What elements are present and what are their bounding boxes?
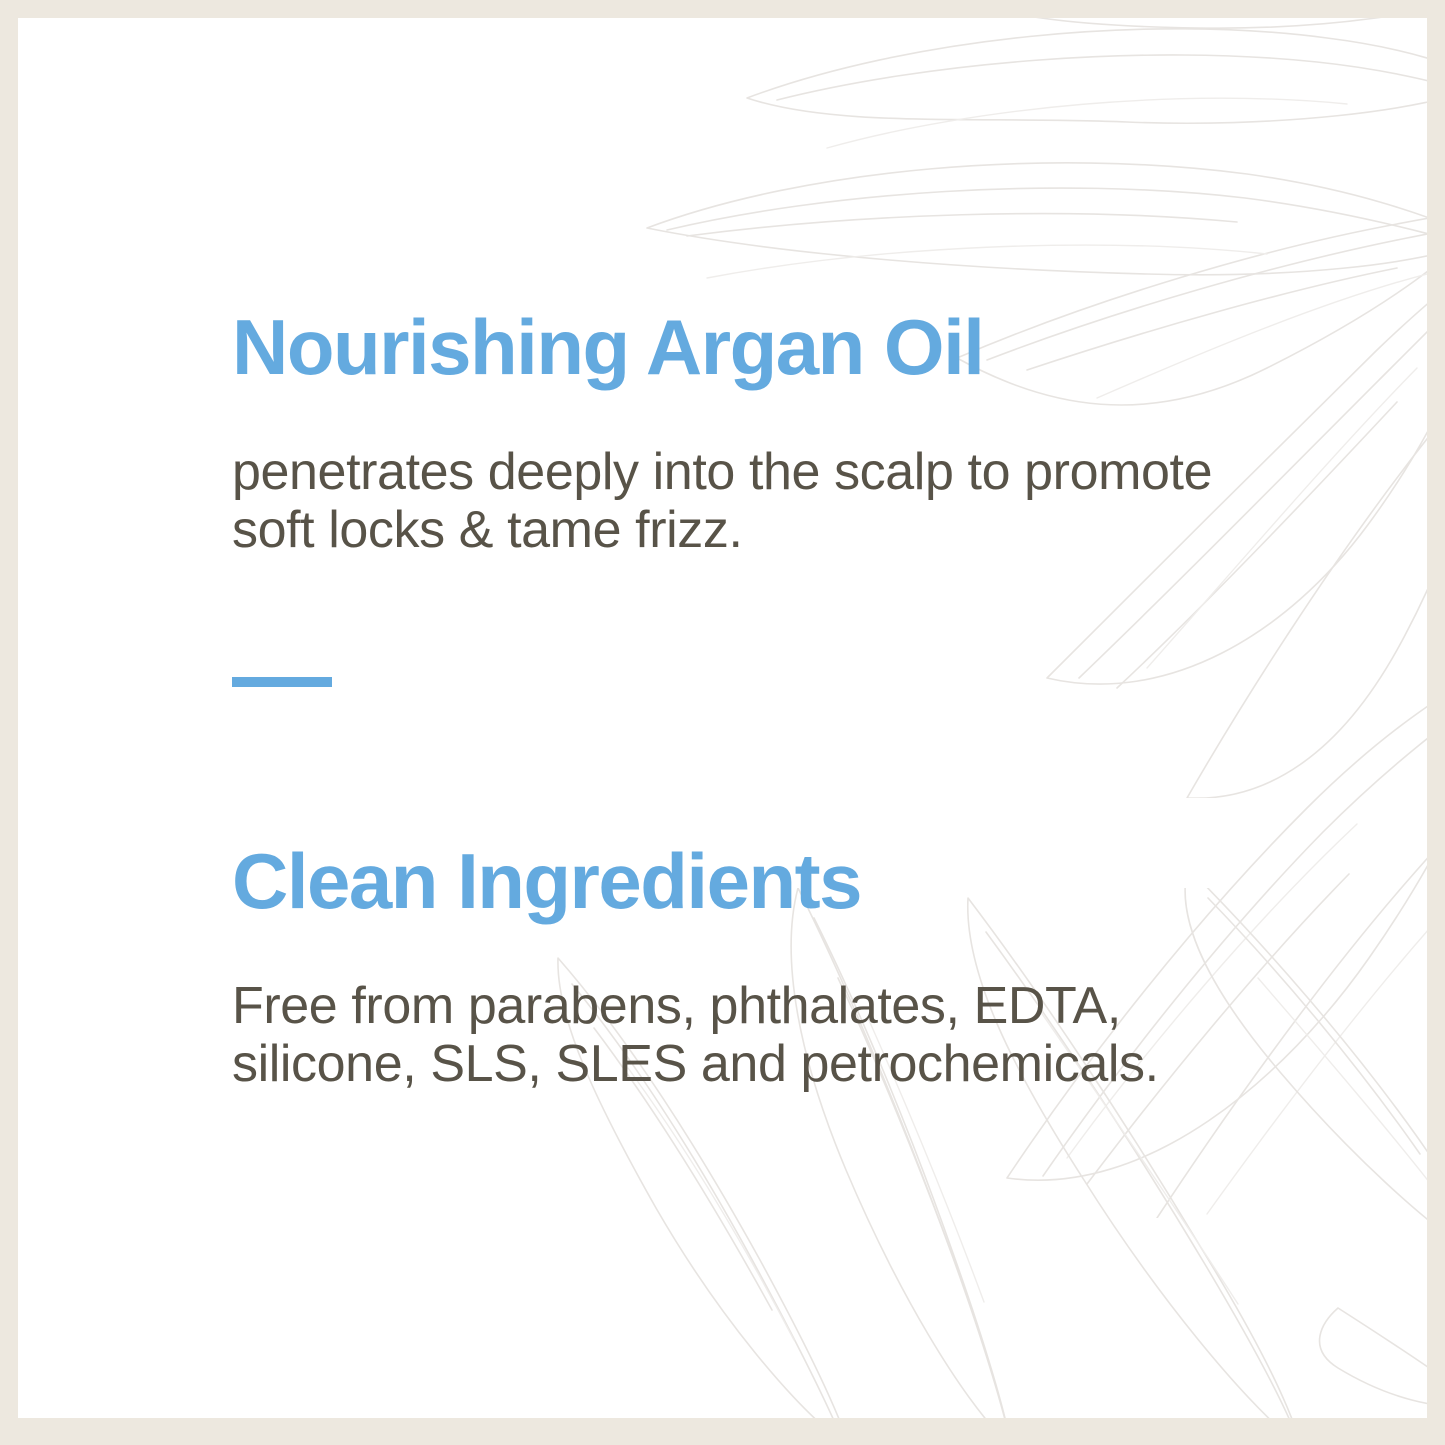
section-title-clean-ingredients: Clean Ingredients bbox=[232, 842, 1332, 922]
feature-description-argan-oil: penetrates deeply into the scalp to prom… bbox=[232, 443, 1292, 559]
page-surface: Nourishing Argan Oil penetrates deeply i… bbox=[18, 18, 1427, 1418]
feature-block-argan-oil: Nourishing Argan Oil penetrates deeply i… bbox=[232, 308, 1332, 559]
accent-rule-divider bbox=[232, 677, 332, 687]
page-title: Nourishing Argan Oil bbox=[232, 308, 1332, 388]
feature-block-clean-ingredients: Clean Ingredients Free from parabens, ph… bbox=[232, 842, 1332, 1093]
feature-description-clean-ingredients: Free from parabens, phthalates, EDTA, si… bbox=[232, 977, 1292, 1093]
content-column: Nourishing Argan Oil penetrates deeply i… bbox=[232, 308, 1332, 1093]
product-infographic-canvas: Nourishing Argan Oil penetrates deeply i… bbox=[0, 0, 1445, 1445]
